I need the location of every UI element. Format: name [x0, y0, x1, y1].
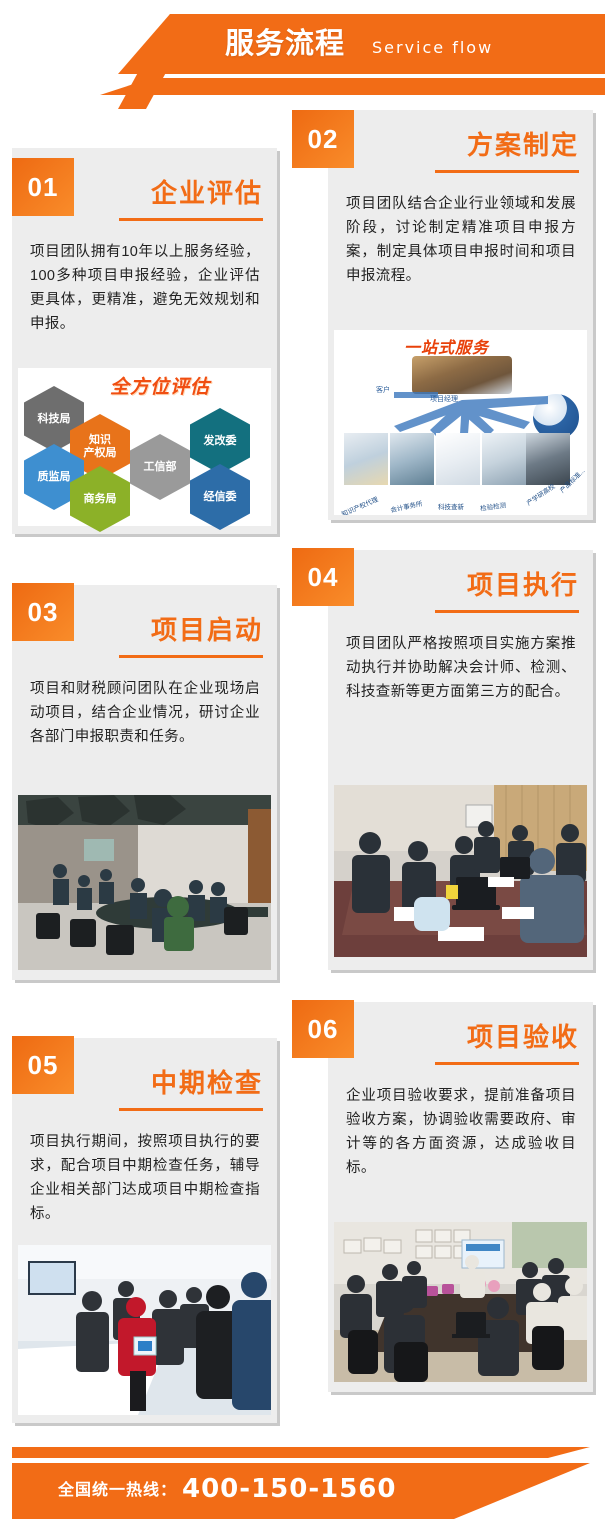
- photo-team-working-meeting: [334, 785, 587, 957]
- photo-site-inspection-group-art: [18, 1245, 271, 1415]
- card-title-05: 中期检查: [151, 1066, 263, 1100]
- card-body-06: 企业项目验收要求，提前准备项目验收方案，协调验收需要政府、审计等的各方面资源，达…: [346, 1084, 576, 1180]
- card-title-02: 方案制定: [467, 128, 579, 162]
- photo-site-inspection-group: [18, 1245, 271, 1415]
- hex-node-6: 经信委: [190, 464, 250, 530]
- one-stop-node-customer: 客户: [376, 385, 390, 395]
- hex-node-label-5: 商务局: [84, 493, 117, 506]
- card-body-04: 项目团队严格按照项目实施方案推动执行并协助解决会计师、检测、科技查新等更方面第三…: [346, 632, 576, 704]
- page-header: 服务流程 Service flow: [0, 0, 605, 105]
- hotline-label: 全国统一热线：: [58, 1478, 177, 1504]
- photo-conference-room-kickoff: [18, 795, 271, 970]
- header-band-lower: [100, 78, 605, 95]
- card-title-rule-06: [435, 1062, 579, 1065]
- card-title-rule-05: [119, 1108, 263, 1111]
- hex-node-label-1: 知识 产权局: [84, 434, 117, 460]
- card-body-02: 项目团队结合企业行业领域和发展阶段，讨论制定精准项目申报方案，制定具体项目申报时…: [346, 192, 576, 288]
- photo-acceptance-meeting-art: [334, 1222, 587, 1382]
- one-stop-node-pm: 项目经理: [430, 394, 458, 404]
- card-number-badge-04: 04: [292, 548, 354, 606]
- card-body-03: 项目和财税顾问团队在企业现场启动项目，结合企业情况，研讨企业各部门申报职责和任务…: [30, 677, 260, 749]
- page-footer: 全国统一热线： 400-150-1560: [0, 1406, 605, 1538]
- hex-node-label-2: 发改委: [204, 435, 237, 448]
- card-number-badge-06: 06: [292, 1000, 354, 1058]
- one-stop-branch-tile-0: [344, 433, 388, 485]
- one-stop-branch-tile-4: [526, 433, 570, 485]
- page-title: 服务流程: [225, 22, 345, 66]
- card-title-03: 项目启动: [151, 613, 263, 647]
- hexagon-assessment-diagram: 全方位评估 科技局 知识 产权局 发改委 质监局 工信部 商务局 经信委: [18, 368, 271, 526]
- header-band: [118, 14, 605, 74]
- card-title-04: 项目执行: [467, 568, 579, 602]
- hex-node-4: 工信部: [130, 434, 190, 500]
- card-title-01: 企业评估: [151, 176, 263, 210]
- card-title-rule-02: [435, 170, 579, 173]
- card-number-badge-02: 02: [292, 110, 354, 168]
- one-stop-branch-label-2: 科技查新: [438, 501, 464, 511]
- hexagon-diagram-title: 全方位评估: [110, 372, 210, 399]
- hotline-number[interactable]: 400-150-1560: [182, 1472, 397, 1506]
- page-subtitle: Service flow: [372, 36, 493, 60]
- card-title-rule-01: [119, 218, 263, 221]
- card-title-rule-04: [435, 610, 579, 613]
- one-stop-branch-tile-3: [482, 433, 526, 485]
- card-body-05: 项目执行期间，按照项目执行的要求，配合项目中期检查任务，辅导企业相关部门达成项目…: [30, 1130, 260, 1226]
- card-number-badge-05: 05: [12, 1036, 74, 1094]
- card-title-rule-03: [119, 655, 263, 658]
- hex-node-label-6: 经信委: [204, 491, 237, 504]
- photo-acceptance-meeting: [334, 1222, 587, 1382]
- one-stop-branch-tile-2: [436, 433, 480, 485]
- one-stop-service-diagram: 一站式服务 客户 项目经理 知识产权代理 会计事务所 科技查新 检验检测 产学研…: [334, 330, 587, 515]
- card-title-06: 项目验收: [467, 1020, 579, 1054]
- card-number-badge-01: 01: [12, 158, 74, 216]
- one-stop-branch-tile-1: [390, 433, 434, 485]
- footer-accent-line: [12, 1447, 590, 1458]
- card-number-badge-03: 03: [12, 583, 74, 641]
- hex-node-label-4: 工信部: [144, 461, 177, 474]
- photo-team-working-meeting-art: [334, 785, 587, 957]
- hex-node-label-0: 科技局: [38, 413, 71, 426]
- photo-conference-room-kickoff-art: [18, 795, 271, 970]
- card-body-01: 项目团队拥有10年以上服务经验，100多种项目申报经验，企业评估更具体，更精准，…: [30, 240, 260, 336]
- hex-node-label-3: 质监局: [38, 471, 71, 484]
